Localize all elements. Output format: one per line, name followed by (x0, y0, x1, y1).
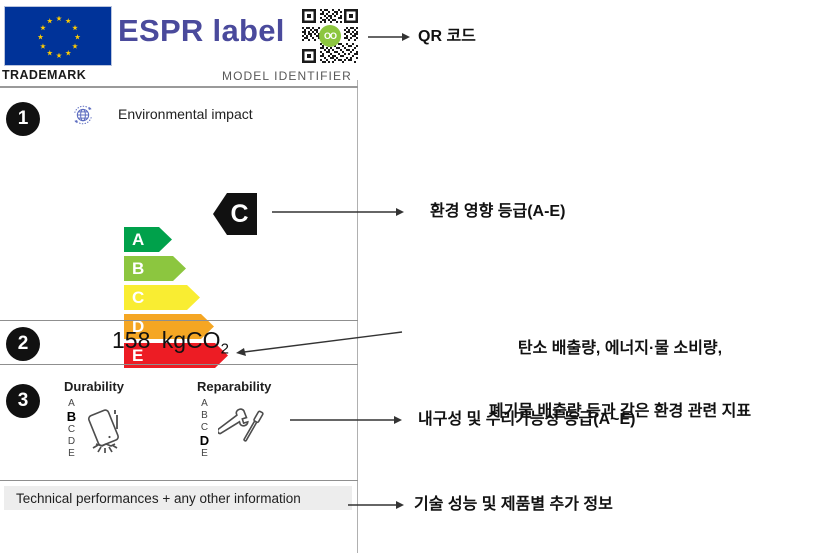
section-1-title: Environmental impact (118, 106, 253, 122)
annotation-arrow-grade (272, 207, 404, 217)
grade-bar-letter: C (132, 288, 144, 308)
scale-letter-c: C (66, 424, 77, 436)
scale-letter-a: A (199, 398, 210, 410)
scale-letter-d: D (66, 436, 77, 448)
scale-letter-e: E (66, 448, 77, 460)
annotation-durability-reparability: 내구성 및 수리가능성 등급(A~E) (418, 409, 635, 430)
grade-bar-letter: A (132, 230, 144, 250)
section-divider-1 (0, 320, 358, 321)
annotation-indicators-line1: 탄소 배출량, 에너지·물 소비량, (420, 338, 820, 359)
technical-performance-strip: Technical performances + any other infor… (4, 486, 352, 510)
reparability-title: Reparability (197, 379, 271, 394)
model-identifier-label: MODEL IDENTIFIER (222, 69, 352, 83)
eu-star (72, 43, 78, 49)
scale-letter-b: B (66, 410, 77, 424)
espr-label-diagram: ESPR label (0, 0, 820, 553)
globe-icon (72, 104, 94, 131)
eu-star (47, 18, 53, 24)
scale-letter-b: B (199, 410, 210, 422)
durability-title: Durability (64, 379, 124, 394)
eu-star (40, 43, 46, 49)
eu-star (75, 34, 81, 40)
eu-star (56, 53, 62, 59)
eu-star (56, 16, 62, 22)
section-1-badge: 1 (6, 102, 40, 136)
grade-bar-a: A (124, 227, 172, 252)
annotation-environment-indicators: 탄소 배출량, 에너지·물 소비량, 폐기물 배출량 등과 같은 환경 관련 지… (420, 296, 820, 464)
annotation-arrow-indicators (244, 330, 414, 340)
annotation-arrow-durability (290, 415, 402, 425)
eu-star (65, 50, 71, 56)
trademark-label: TRADEMARK (2, 68, 86, 82)
annotation-environmental-grade: 환경 영향 등급(A-E) (430, 201, 565, 222)
wrench-screwdriver-icon (218, 406, 270, 459)
scale-letter-d: D (199, 434, 210, 448)
annotation-technical-performance: 기술 성능 및 제품별 추가 정보 (414, 494, 613, 515)
qr-code-icon[interactable]: OO (300, 7, 360, 65)
grade-bar-b: B (124, 256, 186, 281)
eu-star (38, 34, 44, 40)
grade-bar-letter: B (132, 259, 144, 279)
grade-bar-c: C (124, 285, 200, 310)
eu-stars-group (5, 7, 111, 65)
section-3-badge: 3 (6, 384, 40, 418)
annotation-qr-code: QR 코드 (418, 26, 476, 47)
qr-center-badge-icon: OO (319, 25, 341, 47)
durability-grade-scale: ABCDE (66, 398, 77, 460)
annotation-arrow-qr (368, 32, 410, 42)
annotation-arrow-technical (348, 500, 404, 510)
eu-star (40, 25, 46, 31)
espr-label-title: ESPR label (118, 13, 285, 49)
eu-star (72, 25, 78, 31)
section-divider-3 (0, 480, 358, 481)
scale-letter-e: E (199, 448, 210, 460)
section-2-badge: 2 (6, 327, 40, 361)
carbon-footprint-value: 158 kgCO2 (112, 327, 229, 358)
espr-label-panel: 1 Environmental impact ABCDE C 2 15 (0, 86, 358, 553)
eu-star (47, 50, 53, 56)
eu-star (65, 18, 71, 24)
dropping-phone-icon (84, 403, 136, 460)
european-union-flag-icon (4, 6, 112, 66)
reparability-grade-scale: ABCDE (199, 398, 210, 460)
